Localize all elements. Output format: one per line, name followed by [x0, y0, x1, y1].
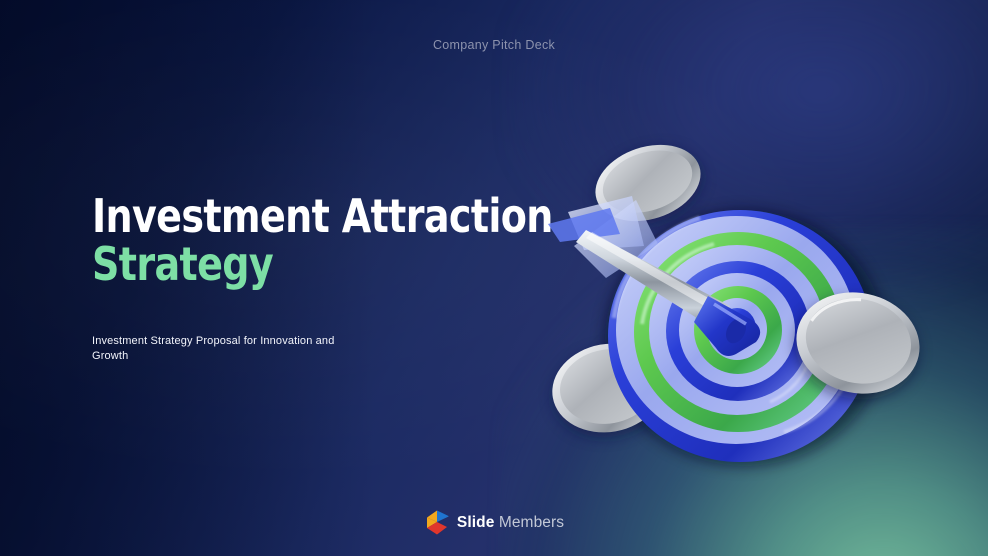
presentation-slide: Company Pitch Deck Investment Attraction…: [0, 0, 988, 556]
footer-logo: Slide Members: [0, 509, 988, 536]
deck-header-label: Company Pitch Deck: [0, 38, 988, 52]
slide-title-line-1: Investment Attraction: [92, 192, 488, 240]
slide-title-line-2: Strategy: [92, 240, 488, 288]
brand-name-light: Members: [494, 514, 564, 531]
brand-wordmark: Slide Members: [457, 514, 564, 532]
brand-name-bold: Slide: [457, 514, 495, 531]
target-dart-illustration: [540, 138, 940, 468]
slide-members-logo-icon: [424, 509, 450, 536]
title-block: Investment Attraction Strategy: [92, 192, 522, 288]
slide-subtitle: Investment Strategy Proposal for Innovat…: [92, 334, 352, 364]
